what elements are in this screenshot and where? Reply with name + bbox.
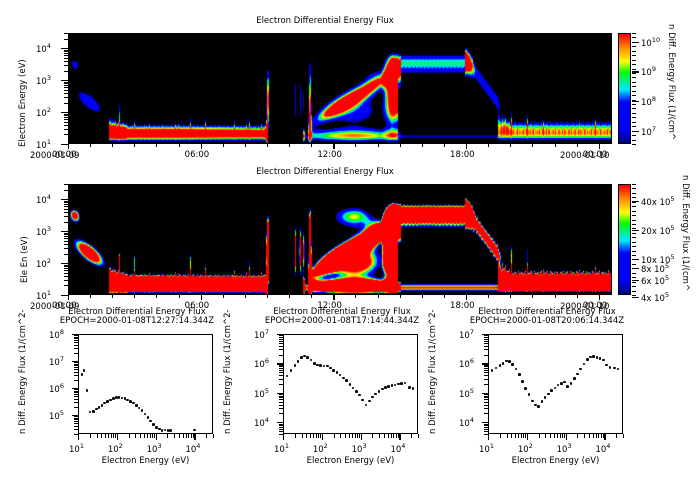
top-cbminor [632,126,636,127]
top-xminor [134,144,135,147]
spectrum-xminor [183,434,184,438]
top-xminor [245,144,246,147]
mid-cbminor [632,206,636,207]
top-yminor [64,85,68,86]
mid-cbtick-0: 4x 105 [641,291,669,304]
spectrum-xminor [206,434,207,438]
mid-yminor [64,201,68,202]
spectrum-yminor [279,341,283,342]
spectrum-xmajor [194,434,195,440]
spectrum-xtick-1-3: 104 [185,442,200,455]
top-ytick-3: 104 [36,42,51,55]
data-point [408,386,411,389]
top-xmajor-4 [599,144,600,149]
mid-xminor [289,295,290,298]
spectrum-xminor [150,434,151,438]
top-xminor [577,144,578,147]
top-xminor [422,144,423,147]
spectrum-yminor [484,431,488,432]
data-point [286,375,289,378]
data-point [544,396,547,399]
data-point [400,382,403,385]
spectrum-xminor [593,434,594,438]
spectrum-yminor [74,342,78,343]
spectrum-ytick-2-0: 104 [254,416,269,429]
top-cbminor [632,95,636,96]
spectrum-yminor [279,343,283,344]
top-xmajor-2 [333,144,334,149]
top-yminor [64,58,68,59]
spectrum-xtick-1-0: 101 [69,442,84,455]
top-xmajor-0 [68,144,69,149]
spectrum-yminor [484,368,488,369]
spectrum-yminor [74,391,78,392]
data-point [576,373,579,376]
data-point [537,405,540,408]
spectrum-yminor [484,402,488,403]
top-xminor [444,144,445,147]
mid-cbminor [632,286,636,287]
data-point [141,409,144,412]
mid-yminor [64,184,68,185]
spectrum-xminor [306,434,307,438]
top-cbminor [632,33,636,34]
spectrum-xmajor [117,434,118,440]
data-point [378,390,381,393]
data-point [98,406,101,409]
spectrum-yminor [74,372,78,373]
spectrum-yminor [484,408,488,409]
spectrum-xminor [372,434,373,438]
top-spectrogram-canvas [69,34,612,144]
spectrum-xmajor [488,434,489,440]
spectrum-xmajor [566,434,567,440]
top-cbtick-3: 1010 [641,36,660,49]
top-ymajor-0 [61,144,68,145]
data-point [323,365,326,368]
spectrum-xminor [174,434,175,438]
spectrum-yminor [279,424,283,425]
data-point [149,420,152,423]
mid-cbtick-4: 20x 105 [641,224,675,237]
spectrum-xminor [352,434,353,438]
data-point [147,416,150,419]
mid-cbminor [632,211,636,212]
mid-xminor [267,295,268,298]
spectrum-yminor [74,407,78,408]
data-point [101,404,104,407]
spectrum-xminor [562,434,563,438]
spectrum-xmajor [399,434,400,440]
data-point [358,394,361,397]
mid-cbminor [632,259,636,260]
mid-yminor [64,285,68,286]
top-yminor [64,65,68,66]
mid-yminor [64,234,68,235]
data-point [602,359,605,362]
spectrum-xminor [391,434,392,438]
mid-cbminor [632,188,636,189]
data-point [387,385,390,388]
mid-xminor [510,295,511,298]
spectrum-xminor [560,434,561,438]
spectrum-yminor [484,399,488,400]
top-colorbar-label: n Diff. Energy Flux (1/(cm^ [666,24,676,140]
mid-cbminor [632,233,636,234]
mid-cbmajor-4 [632,230,639,231]
mid-cbminor [632,242,636,243]
top-xminor [223,144,224,147]
spectrum-xtick-1-2: 103 [147,442,162,455]
mid-xminor [488,295,489,298]
top-yminor [64,87,68,88]
data-point [306,356,309,359]
spectrum-xminor [129,434,130,438]
mid-cbminor [632,202,636,203]
top-cbminor [632,104,636,105]
data-point [592,355,595,358]
data-point [86,389,89,392]
spectrum-yminor [74,394,78,395]
top-xminor [90,144,91,147]
spectrum-xminor [113,434,114,438]
spectrum-ytick-3-0: 104 [459,416,474,429]
top-xminor [112,144,113,147]
spectrum-yminor [74,365,78,366]
data-point [144,413,147,416]
spectrum-xminor [584,434,585,438]
top-yminor [64,93,68,94]
mid-cbminor [632,184,636,185]
spectrum-xminor [589,434,590,438]
mid-yminor [64,212,68,213]
spectrum-yminor [74,335,78,336]
mid-ytick-0: 101 [36,289,51,302]
mid-spectrogram-plot[interactable] [68,184,612,295]
spectrum-xminor [349,434,350,438]
spectrum-yminor [74,392,78,393]
spectrum-epoch-3: EPOCH=2000-01-08T20:06:14.344Z [432,316,662,326]
top-ymajor-3 [61,48,68,49]
spectrum-yminor [279,355,283,356]
mid-yminor [64,280,68,281]
data-point [491,369,494,372]
spectrum-ytick-2-1: 105 [254,387,269,400]
spectrum-xminor [539,434,540,438]
top-yminor [64,83,68,84]
spectrum-xlabel-2: Electron Energy (eV) [263,456,438,466]
spectrum-yminor [484,405,488,406]
data-point [345,379,348,382]
spectrum-yminor [74,429,78,430]
spectrum-ytick-2-3: 107 [254,328,269,341]
mid-yminor [64,236,68,237]
spectrum-xminor [144,434,145,438]
spectrum-yminor [484,384,488,385]
mid-yminor [64,244,68,245]
data-point [547,393,550,396]
spectrum-plot-2[interactable] [283,334,418,434]
top-cbminor [632,51,636,52]
spectrum-yminor [279,349,283,350]
spectrum-yminor [484,379,488,380]
top-xtick-2: 12:00 [317,150,342,160]
mid-cbtick-5: 40x 105 [641,195,675,208]
spectrum-yminor [279,335,283,336]
data-point [566,385,569,388]
top-xminor [488,144,489,147]
mid-ymajor-0 [61,295,68,296]
mid-panel-title: Electron Differential Energy Flux [160,167,490,177]
spectrum-ytick-1-2: 107 [49,355,64,368]
spectrum-xtick-2-1: 102 [313,442,328,455]
spectrum-xminor [318,434,319,438]
top-cbminor [632,122,636,123]
spectrum-yminor [484,365,488,366]
spectrum-plot-1[interactable] [78,334,213,434]
spectrum-xminor [523,434,524,438]
mid-cbminor [632,197,636,198]
spectrum-xminor [384,434,385,438]
spectrum-xminor [108,434,109,438]
mid-xminor [422,295,423,298]
spectrum-xmajor [527,434,528,440]
spectrum-xlabel-1: Electron Energy (eV) [58,456,233,466]
spectrum-xtick-3-3: 104 [595,442,610,455]
data-point [397,383,400,386]
spectrum-yminor [74,389,78,390]
data-point [534,404,537,407]
spectrum-xminor [507,434,508,438]
spectrum-xminor [396,434,397,438]
spectrum-xminor [101,434,102,438]
spectrum-yminor [74,337,78,338]
mid-ytick-3: 104 [36,193,51,206]
data-point [300,356,303,359]
mid-xminor [112,295,113,298]
top-yminor [64,117,68,118]
spectrum-xminor [313,434,314,438]
spectrum-yminor [484,425,488,426]
spectrum-xminor [188,434,189,438]
spectrum-yminor [484,339,488,340]
mid-xminor [245,295,246,298]
spectrum-yminor [484,337,488,338]
spectrum-xminor [518,434,519,438]
data-point [613,367,616,370]
spectrum-yminor [74,375,78,376]
spectrum-yminor [279,427,283,428]
top-yminor [64,33,68,34]
data-point [499,364,502,367]
mid-xminor [532,295,533,298]
top-panel-title: Electron Differential Energy Flux [160,16,490,26]
top-cbminor [632,100,636,101]
top-ymajor-2 [61,80,68,81]
spectrum-ytick-3-3: 107 [459,328,474,341]
mid-yminor [64,268,68,269]
top-xaxis-date-right: 2000-01-10 [560,151,609,161]
data-point [193,429,196,432]
data-point [164,429,167,432]
spectrum-xmajor [156,434,157,440]
spectrum-xminor [345,434,346,438]
spectrum-yminor [74,416,78,417]
spectrum-xminor [152,434,153,438]
data-point [412,387,415,390]
data-point [563,381,566,384]
data-point [368,400,371,403]
spectrum-ytick-3-2: 106 [459,357,474,370]
spectrum-yminor [74,426,78,427]
spectrum-ylabel-3: n Diff. Energy Flux (1/(cm^2- [428,309,438,434]
top-yminor [64,114,68,115]
mid-yminor [64,209,68,210]
mid-yminor [64,190,68,191]
data-point [554,387,557,390]
top-cbminor [632,60,636,61]
mid-xminor [311,295,312,298]
spectrum-xminor [379,434,380,438]
spectrum-xminor [97,434,98,438]
spectrum-xminor [616,434,617,438]
spectrum-xminor [411,434,412,438]
mid-yminor [64,248,68,249]
mid-cbmajor-0 [632,297,639,298]
spectrum-xminor [111,434,112,438]
spectrum-xtick-1-1: 102 [108,442,123,455]
top-xminor [532,144,533,147]
data-point [495,367,498,370]
spectrum-xminor [135,434,136,438]
top-cbminor [632,144,636,145]
mid-cbminor [632,268,636,269]
spectrum-ylabel-1: n Diff. Energy Flux (1/(cm^2- [18,309,28,434]
data-point [81,373,84,376]
spectrum-xminor [393,434,394,438]
spectrum-xtick-3-2: 103 [557,442,572,455]
spectrum-yminor [74,353,78,354]
data-point [313,362,316,365]
top-colorbar[interactable] [618,33,631,144]
spectrum-yminor [484,396,488,397]
spectrum-yminor [74,340,78,341]
data-point [609,366,612,369]
top-cbminor [632,135,636,136]
data-point [332,369,335,372]
data-point [121,397,124,400]
mid-cbminor [632,224,636,225]
spectrum-yminor [279,396,283,397]
mid-xmajor-1 [201,295,202,300]
spectrum-xminor [213,434,214,438]
data-point [579,368,582,371]
data-point [502,362,505,365]
top-xaxis-date-left: 2000-01-09 [30,151,79,161]
data-point [531,400,534,403]
spectrum-plot-3[interactable] [488,334,623,434]
spectrum-yminor [74,419,78,420]
data-point [596,356,599,359]
spectrum-yminor [484,355,488,356]
spectrum-epoch-2: EPOCH=2000-01-08T17:14:44.344Z [227,316,457,326]
mid-yminor [64,222,68,223]
data-point [586,358,589,361]
top-cbminor [632,42,636,43]
data-point [524,387,527,390]
top-spectrogram-plot[interactable] [68,33,612,144]
data-point [511,363,514,366]
spectrum-yminor [279,375,283,376]
mid-xminor [179,295,180,298]
data-point [336,371,339,374]
data-point [515,368,518,371]
spectrum-xminor [167,434,168,438]
mid-cbminor [632,228,636,229]
data-point [83,369,86,372]
mid-xminor [90,295,91,298]
mid-colorbar[interactable] [618,184,631,295]
top-cbmajor-1 [632,101,639,102]
spectrum-xminor [511,434,512,438]
spectrum-xminor [596,434,597,438]
spectrum-xminor [398,434,399,438]
mid-ytick-2: 103 [36,225,51,238]
top-cbminor [632,117,636,118]
spectrum-xminor [388,434,389,438]
mid-xminor [555,295,556,298]
mid-yminor [64,265,68,266]
mid-yminor [64,216,68,217]
top-xminor [311,144,312,147]
spectrum-yminor [279,384,283,385]
spectrum-yminor [484,335,488,336]
mid-cbminor [632,295,636,296]
spectrum-yminor [484,372,488,373]
spectrum-xminor [545,434,546,438]
mid-cbminor [632,291,636,292]
top-xminor [156,144,157,147]
spectrum-ytick-3-1: 105 [459,387,474,400]
mid-cbminor [632,273,636,274]
spectrum-xtick-2-3: 104 [390,442,405,455]
mid-yminor [64,233,68,234]
top-cbminor [632,77,636,78]
mid-ymajor-3 [61,199,68,200]
mid-xmajor-3 [466,295,467,300]
spectrum-xminor [564,434,565,438]
data-point [290,369,293,372]
data-point [521,380,524,383]
mid-yminor [64,202,68,203]
spectrum-xminor [515,434,516,438]
spectrum-yminor [279,429,283,430]
spectrum-xtick-3-1: 102 [518,442,533,455]
top-cbminor [632,131,636,132]
top-cbtick-2: 109 [641,65,656,78]
spectrum-yminor [74,367,78,368]
mid-yminor [64,206,68,207]
mid-xminor [400,295,401,298]
spectrum-xminor [554,434,555,438]
spectrum-yminor [279,431,283,432]
spectrum-yminor [74,399,78,400]
spectrum-yminor [279,402,283,403]
mid-yminor [64,254,68,255]
top-yminor [64,129,68,130]
top-panel-ylabel: Electron Energy (eV) [18,59,28,147]
data-point [528,393,531,396]
